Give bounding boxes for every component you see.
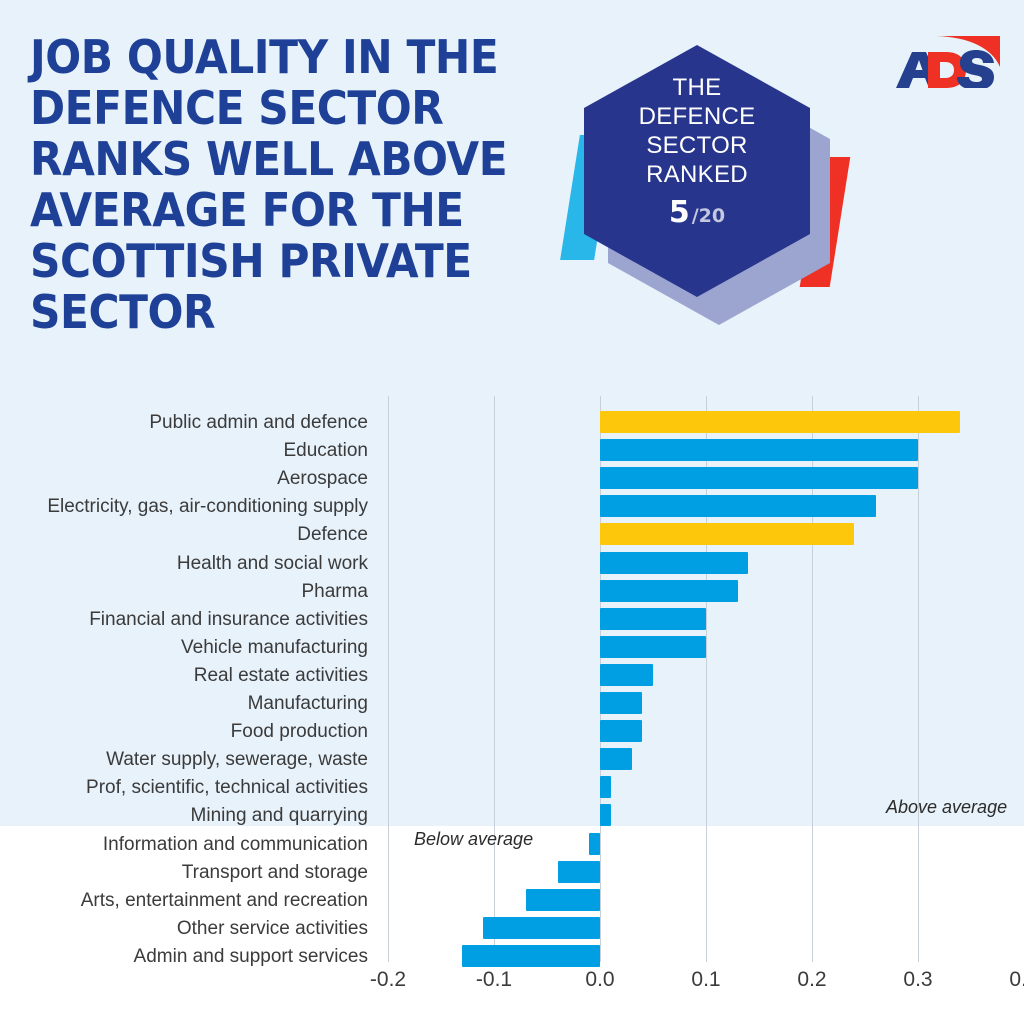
category-label: Pharma [0,581,368,603]
bar-chart: Public admin and defenceEducationAerospa… [0,396,1024,1024]
gridline [494,396,495,962]
bar [600,664,653,686]
tick-label: 0.1 [666,968,746,992]
category-label: Information and communication [0,834,368,856]
bar [600,523,854,545]
bar [589,833,600,855]
tick-label: 0.2 [772,968,852,992]
badge-rank-total: /20 [692,205,725,227]
tick-label: 0.0 [560,968,640,992]
badge-caption: THE DEFENCE SECTOR RANKED [584,73,810,189]
category-label: Prof, scientific, technical activities [0,777,368,799]
bar [600,552,748,574]
category-label: Arts, entertainment and recreation [0,890,368,912]
bar [600,804,611,826]
category-label: Vehicle manufacturing [0,637,368,659]
bar [600,608,706,630]
bar [600,467,918,489]
category-label: Other service activities [0,918,368,940]
tick-label: -0.1 [454,968,534,992]
gridline [918,396,919,962]
badge-line-3: SECTOR [584,131,810,160]
above-average-annotation: Above average [886,797,1007,818]
bar [600,580,738,602]
bar [600,411,960,433]
badge-rank-number: 5 [669,195,690,230]
bar [483,917,600,939]
bar [526,889,600,911]
ads-logo [884,22,1004,88]
category-label: Admin and support services [0,946,368,968]
bar [600,776,611,798]
category-label: Transport and storage [0,862,368,884]
badge-line-2: DEFENCE [584,102,810,131]
badge-line-1: THE [584,73,810,102]
page-title: JOB QUALITY IN THE DEFENCE SECTOR RANKS … [30,32,508,338]
badge-rank: 5/20 [584,195,810,230]
category-label: Education [0,440,368,462]
category-label: Water supply, sewerage, waste [0,749,368,771]
category-label: Public admin and defence [0,412,368,434]
bar [600,720,642,742]
badge-line-4: RANKED [584,160,810,189]
category-label: Financial and insurance activities [0,609,368,631]
gridline [388,396,389,962]
bar [600,439,918,461]
bar [600,636,706,658]
bar [600,692,642,714]
category-axis-labels: Public admin and defenceEducationAerospa… [0,396,378,962]
category-label: Health and social work [0,553,368,575]
category-label: Electricity, gas, air-conditioning suppl… [0,496,368,518]
infographic-root: JOB QUALITY IN THE DEFENCE SECTOR RANKS … [0,0,1024,1024]
category-label: Manufacturing [0,693,368,715]
tick-label: -0.2 [348,968,428,992]
plot-area [388,396,1024,962]
category-label: Defence [0,524,368,546]
tick-label: 0.4 [984,968,1024,992]
category-label: Real estate activities [0,665,368,687]
bar [600,495,876,517]
below-average-annotation: Below average [414,829,533,850]
bar [558,861,600,883]
bar [600,748,632,770]
value-axis-ticks: -0.2-0.10.00.10.20.30.4 [0,968,1024,1002]
tick-label: 0.3 [878,968,958,992]
category-label: Mining and quarrying [0,805,368,827]
bar [462,945,600,967]
rank-badge: THE DEFENCE SECTOR RANKED 5/20 [560,35,860,335]
category-label: Food production [0,721,368,743]
category-label: Aerospace [0,468,368,490]
